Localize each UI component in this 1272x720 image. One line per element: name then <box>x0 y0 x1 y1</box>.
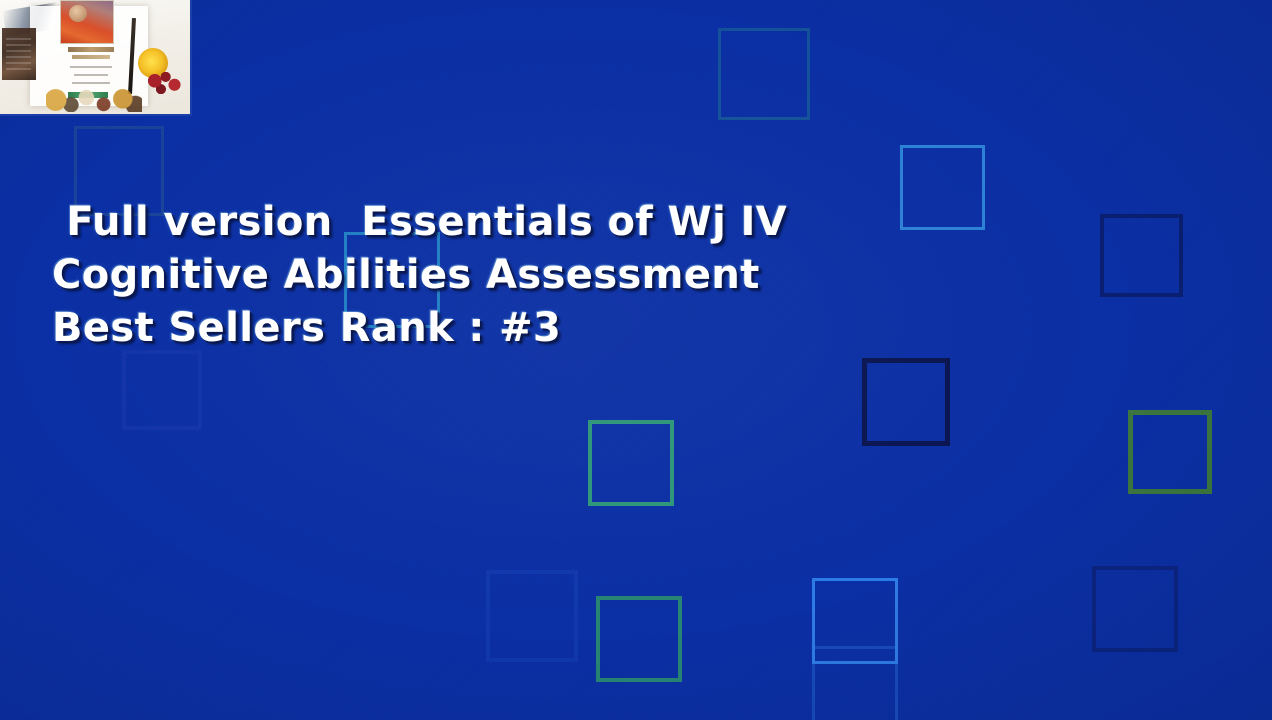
thumbnail-text-line <box>72 82 110 84</box>
thumbnail-text-line <box>70 66 112 68</box>
thumbnail-title-bar-primary <box>68 47 114 52</box>
headline-line-2: Cognitive Abilities Assessment <box>52 249 852 302</box>
headline-text-block: Full version Essentials of Wj IV Cogniti… <box>52 196 852 355</box>
book-cover-thumbnail[interactable] <box>0 0 192 116</box>
video-thumbnail-slide: Full version Essentials of Wj IV Cogniti… <box>0 0 1272 720</box>
headline-line-3: Best Sellers Rank : #3 <box>52 302 852 355</box>
thumbnail-scatter-graphic <box>46 88 142 112</box>
square-green-bottom <box>596 596 682 682</box>
headline-line-1: Full version Essentials of Wj IV <box>52 196 852 249</box>
thumbnail-cover-photo <box>60 0 114 44</box>
square-navy-center-right <box>862 358 950 446</box>
thumbnail-title-bar-secondary <box>72 55 110 59</box>
thumbnail-berries-graphic <box>148 72 182 94</box>
square-navy-right <box>1100 214 1183 297</box>
square-green-center <box>588 420 674 506</box>
square-navy-bottom-right <box>1092 566 1178 652</box>
square-blue-mid-left <box>122 350 202 430</box>
square-bright-blue-ghost <box>812 646 898 720</box>
thumbnail-text-line <box>74 74 108 76</box>
square-cyan-upper-right <box>900 145 985 230</box>
square-faint-lower-left <box>486 570 578 662</box>
square-olive-right <box>1128 410 1212 494</box>
square-teal-top-center <box>718 28 810 120</box>
thumbnail-dark-graphic <box>2 28 36 80</box>
